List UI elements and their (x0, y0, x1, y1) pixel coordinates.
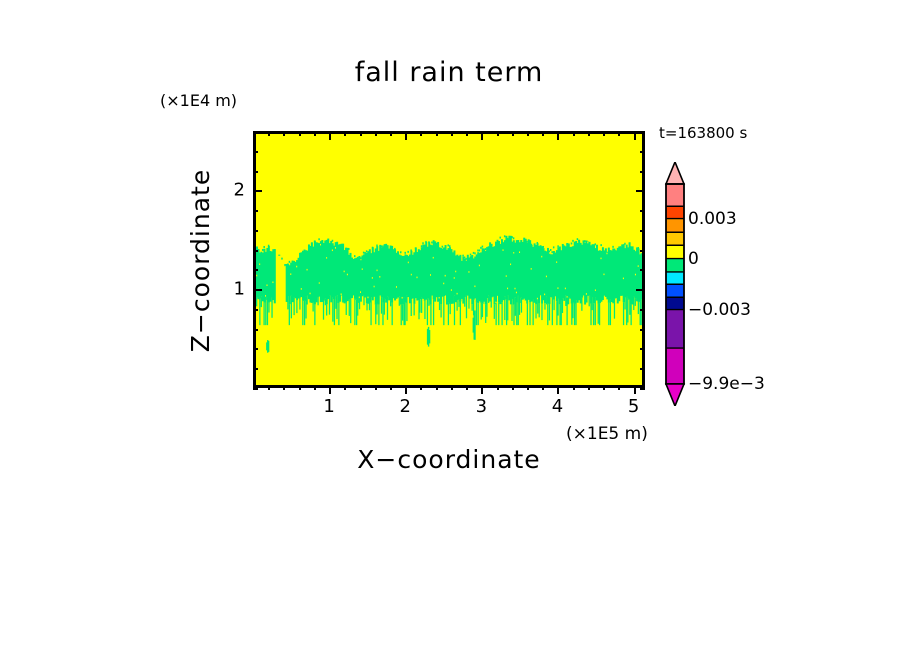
fall-streak (335, 297, 336, 309)
x-minor-tick-top (360, 131, 362, 136)
y-minor-tick (253, 348, 258, 350)
x-major-tick-top (557, 131, 559, 140)
crest-speckle (511, 236, 512, 238)
x-minor-tick-top (527, 131, 529, 136)
fall-streak (357, 303, 358, 316)
fall-streak (381, 297, 382, 314)
crest-speckle (624, 243, 625, 245)
y-minor-tick (253, 131, 258, 133)
crest-speckle (407, 251, 408, 253)
band-hole (595, 289, 596, 291)
fall-streak (476, 302, 477, 325)
fall-streak (376, 304, 377, 315)
band-hole (310, 293, 311, 295)
crest-speckle (357, 257, 358, 259)
fall-streak (610, 300, 611, 325)
crest-speckle (289, 261, 290, 263)
fall-streak (568, 297, 569, 304)
band-hole (359, 297, 360, 299)
x-major-tick-top (634, 131, 636, 140)
fall-streak (326, 304, 327, 315)
y-minor-tick (253, 269, 258, 271)
crest-speckle (474, 252, 475, 254)
x-minor-tick (542, 385, 544, 390)
crest-speckle (531, 244, 532, 246)
crest-speckle (538, 246, 539, 248)
band-hole (531, 268, 532, 270)
band-hole (341, 293, 342, 295)
x-minor-tick (527, 385, 529, 390)
fall-streak (448, 302, 449, 325)
y-minor-tick (253, 329, 258, 331)
x-minor-tick (360, 385, 362, 390)
x-major-tick-top (405, 131, 407, 140)
y-minor-tick (253, 388, 258, 390)
band-hole (272, 281, 273, 283)
crest-speckle (553, 246, 554, 248)
fall-streak (556, 301, 557, 325)
colorbar-band-7 (666, 284, 684, 297)
crest-speckle (448, 244, 449, 246)
fall-streak (338, 303, 339, 325)
band-hole (416, 277, 417, 279)
fall-streak (430, 305, 431, 325)
x-minor-tick (299, 385, 301, 390)
crest-speckle (464, 257, 465, 259)
fall-streak (317, 298, 318, 306)
fall-streak (382, 303, 383, 325)
x-minor-tick (390, 385, 392, 390)
colorbar-band-8 (666, 297, 684, 310)
colorbar-label-1: 0 (688, 249, 699, 269)
crest-speckle (311, 243, 312, 245)
x-minor-tick (603, 385, 605, 390)
band-hole (451, 289, 452, 291)
crest-speckle (425, 241, 426, 243)
y-major-tick (253, 190, 262, 192)
fall-streak (541, 304, 542, 320)
fall-streak (289, 304, 290, 325)
band-column (274, 249, 276, 303)
fall-streak (623, 302, 624, 325)
crest-speckle (317, 243, 318, 245)
band-hole (603, 274, 604, 276)
y-minor-tick (253, 230, 258, 232)
band-hole (379, 276, 380, 278)
band-hole (586, 293, 587, 295)
crest-speckle (321, 241, 322, 243)
fall-streak (595, 297, 596, 325)
crest-speckle (620, 246, 621, 248)
fall-streak (471, 304, 472, 310)
fall-streak (627, 299, 628, 323)
crest-speckle (327, 240, 328, 242)
crest-speckle (394, 248, 395, 250)
band-hole (259, 263, 260, 265)
colorbar-band-9 (666, 310, 684, 349)
crest-speckle (482, 246, 483, 248)
band-hole (296, 266, 297, 268)
band-hole (479, 265, 480, 267)
band-hole (495, 302, 496, 304)
band-hole (332, 249, 333, 251)
x-major-tick (329, 385, 331, 394)
colorbar-band-10 (666, 348, 684, 384)
crest-speckle (338, 244, 339, 246)
fall-streak (515, 297, 516, 316)
fall-streak (506, 300, 507, 326)
fall-streak (265, 300, 266, 325)
band-hole (344, 271, 345, 273)
y-axis-unit-label: (×1E4 m) (160, 91, 237, 110)
fall-streak (323, 301, 324, 320)
fall-streak (399, 296, 400, 305)
band-hole (519, 251, 520, 253)
fall-streak (464, 297, 465, 307)
x-minor-tick (466, 385, 468, 390)
fall-streak (614, 299, 615, 319)
y-major-tick-right (636, 289, 645, 291)
band-hole (510, 264, 511, 266)
fall-streak (302, 301, 303, 326)
band-hole (256, 275, 257, 277)
fall-streak (494, 304, 495, 319)
x-minor-tick-top (603, 131, 605, 136)
y-minor-tick-right (640, 151, 645, 153)
fall-streak (633, 297, 634, 310)
band-hole (347, 274, 348, 276)
colorbar-band-2 (666, 219, 684, 233)
fall-streak (590, 304, 591, 326)
colorbar-top-arrow (666, 162, 684, 184)
fall-streak (439, 301, 440, 310)
crest-speckle (431, 241, 432, 243)
crest-speckle (450, 250, 451, 252)
band-hole (557, 287, 558, 289)
fall-streak (334, 299, 335, 325)
colorbar-label-3: −9.9e−3 (688, 374, 765, 394)
y-minor-tick-right (640, 388, 645, 390)
y-minor-tick (253, 210, 258, 212)
crest-speckle (577, 238, 578, 240)
fall-streak (485, 304, 486, 323)
colorbar-band-5 (666, 259, 684, 273)
colorbar-band-1 (666, 206, 684, 219)
x-minor-tick (512, 385, 514, 390)
band-hole (445, 275, 446, 277)
fall-streak (641, 299, 642, 325)
x-minor-tick (375, 385, 377, 390)
fall-streak (549, 304, 550, 320)
fall-streak (516, 302, 517, 325)
fall-streak (350, 299, 351, 324)
crest-speckle (548, 250, 549, 252)
x-minor-tick-top (588, 131, 590, 136)
page-title: fall rain term (253, 57, 645, 88)
fall-streak (501, 302, 502, 325)
crest-speckle (630, 246, 631, 248)
fall-streak (529, 302, 530, 325)
band-hole (396, 286, 397, 288)
x-tick-label-0: 1 (323, 396, 334, 417)
fall-streak (406, 296, 407, 321)
fall-streak (539, 303, 540, 317)
crest-speckle (485, 248, 486, 250)
y-minor-tick-right (640, 348, 645, 350)
band-hole (503, 249, 504, 251)
x-minor-tick-top (497, 131, 499, 136)
crest-speckle (292, 261, 293, 263)
crest-speckle (458, 256, 459, 258)
band-hole (457, 293, 458, 295)
crest-speckle (314, 240, 315, 242)
y-axis-title-text: Z−coordinate (187, 168, 216, 351)
crest-speckle (366, 250, 367, 252)
band-hole (516, 292, 517, 294)
fall-streak (561, 301, 562, 325)
fall-streak (271, 298, 272, 318)
x-minor-tick-top (283, 131, 285, 136)
band-hole (372, 277, 373, 279)
fall-streak (575, 300, 576, 325)
crest-speckle (571, 242, 572, 244)
band-hole (623, 278, 624, 280)
fall-streak (486, 298, 487, 317)
fall-streak (384, 299, 385, 315)
crest-speckle (428, 241, 429, 243)
fall-streak (346, 302, 347, 315)
crest-speckle (578, 240, 579, 242)
x-major-tick (405, 385, 407, 394)
y-tick-label-0: 1 (219, 279, 245, 300)
fall-streak (456, 300, 457, 311)
band-hole (565, 288, 566, 290)
x-minor-tick-top (299, 131, 301, 136)
crest-speckle (612, 246, 613, 248)
crest-speckle (382, 245, 383, 247)
fall-streak (552, 298, 553, 325)
fall-streak (390, 300, 391, 306)
fall-streak (414, 304, 415, 316)
band-hole (544, 294, 545, 296)
band-hole (514, 288, 515, 290)
fall-streak (562, 298, 563, 313)
x-minor-tick-top (542, 131, 544, 136)
band-hole (587, 242, 588, 244)
band-hole (606, 253, 607, 255)
band-hole (635, 274, 636, 276)
crest-speckle (504, 235, 505, 237)
crest-speckle (583, 240, 584, 242)
fall-streak (356, 300, 357, 325)
band-hole (411, 274, 412, 276)
x-minor-tick (344, 385, 346, 390)
fall-streak (460, 301, 461, 325)
band-hole (367, 297, 368, 299)
fall-streak (401, 305, 402, 326)
colorbar-band-4 (666, 245, 684, 259)
fall-streak (626, 296, 627, 325)
band-hole (430, 274, 431, 276)
fall-streak (427, 298, 428, 325)
timestamp-annotation: t=163800 s (659, 124, 747, 142)
fall-streak (421, 298, 422, 313)
band-hole (513, 252, 514, 254)
fall-streak (571, 304, 572, 325)
fall-streak (521, 298, 522, 313)
fall-streak (268, 303, 269, 313)
x-minor-tick-top (390, 131, 392, 136)
crest-speckle (348, 248, 349, 250)
x-minor-tick (573, 385, 575, 390)
fall-streak (589, 296, 590, 307)
crest-speckle (449, 245, 450, 247)
fall-streak (307, 296, 308, 305)
crest-speckle (465, 258, 466, 260)
crest-speckle (499, 237, 500, 239)
x-tick-label-1: 2 (399, 396, 410, 417)
x-minor-tick (420, 385, 422, 390)
x-major-tick (634, 385, 636, 394)
fall-streak (478, 303, 479, 325)
fall-streak (263, 302, 264, 325)
fall-streak (574, 304, 575, 326)
crest-speckle (550, 249, 551, 251)
x-axis-title: X−coordinate (253, 445, 645, 474)
crest-speckle (600, 244, 601, 246)
fall-streak (375, 305, 376, 325)
band-hole (474, 286, 475, 288)
fall-streak (496, 302, 497, 325)
crest-speckle (372, 247, 373, 249)
crest-speckle (551, 251, 552, 253)
band-hole (546, 276, 547, 278)
fall-streak (635, 298, 636, 306)
fall-streak (454, 296, 455, 325)
y-major-tick (253, 289, 262, 291)
band-hole (320, 244, 321, 246)
band-hole (326, 257, 327, 259)
crest-speckle (422, 242, 423, 244)
colorbar-bottom-arrow (666, 384, 684, 406)
crest-speckle (594, 243, 595, 245)
fall-streak (572, 302, 573, 318)
fall-streak (378, 305, 379, 326)
crest-speckle (473, 252, 474, 254)
fall-streak (296, 300, 297, 313)
x-minor-tick-top (268, 131, 270, 136)
fall-streak (428, 300, 429, 306)
colorbar-band-3 (666, 232, 684, 245)
fall-streak (491, 297, 492, 307)
fall-streak (518, 296, 519, 326)
colorbar-svg (662, 162, 688, 406)
fall-streak (366, 303, 367, 310)
fall-streak (565, 295, 566, 306)
fall-streak (507, 295, 508, 320)
crest-speckle (543, 246, 544, 248)
band-column (278, 255, 280, 256)
band-hole (439, 297, 440, 299)
crest-speckle (268, 245, 269, 247)
fall-streak (450, 304, 451, 314)
x-minor-tick (588, 385, 590, 390)
fall-streak (498, 302, 499, 325)
band-hole (556, 261, 557, 263)
y-minor-tick-right (640, 131, 645, 133)
fall-streak (466, 296, 467, 319)
fall-streak (293, 297, 294, 315)
fall-streak (631, 304, 632, 325)
fall-streak (304, 301, 305, 325)
band-hole (601, 258, 602, 260)
fall-streak (535, 304, 536, 318)
crest-speckle (479, 249, 480, 251)
fall-streak (513, 305, 514, 326)
fall-streak (354, 299, 355, 325)
crest-speckle (326, 240, 327, 242)
x-axis-unit-label: (×1E5 m) (566, 424, 648, 444)
crest-speckle (480, 247, 481, 249)
y-minor-tick-right (640, 368, 645, 370)
x-minor-tick-top (344, 131, 346, 136)
x-minor-tick (314, 385, 316, 390)
crest-speckle (315, 243, 316, 245)
x-major-tick (557, 385, 559, 394)
isolated-patch (474, 310, 475, 339)
fall-streak (404, 303, 405, 325)
band-hole (265, 295, 266, 297)
crest-speckle (614, 249, 615, 251)
crest-speckle (566, 244, 567, 246)
fall-streak (638, 302, 639, 314)
fall-streak (433, 299, 434, 325)
fall-streak (332, 297, 333, 322)
crest-speckle (424, 245, 425, 247)
x-tick-label-4: 5 (628, 396, 639, 417)
y-minor-tick (253, 309, 258, 311)
y-minor-tick (253, 151, 258, 153)
y-minor-tick-right (640, 230, 645, 232)
y-minor-tick-right (640, 269, 645, 271)
band-hole (541, 256, 542, 258)
crest-speckle (415, 247, 416, 249)
band-hole (433, 257, 434, 259)
y-axis-title: Z−coordinate (186, 170, 216, 350)
fall-streak (598, 303, 599, 323)
x-minor-tick-top (618, 131, 620, 136)
colorbar-band-6 (666, 272, 684, 285)
fall-streak (593, 303, 594, 325)
fall-streak (411, 299, 412, 316)
crest-speckle (507, 238, 508, 240)
crest-speckle (332, 240, 333, 242)
fall-streak (599, 303, 600, 325)
plot-figure: fall rain term (×1E4 m) t=163800 s 12345… (0, 0, 904, 654)
fall-streak (547, 303, 548, 325)
fall-streak (481, 303, 482, 320)
x-major-tick-top (329, 131, 331, 140)
crest-speckle (364, 252, 365, 254)
crest-speckle (510, 236, 511, 238)
x-minor-tick (618, 385, 620, 390)
crest-speckle (537, 242, 538, 244)
crest-speckle (584, 240, 585, 242)
band-hole (402, 297, 403, 299)
fall-streak (369, 302, 370, 310)
fall-streak (336, 295, 337, 319)
band-hole (307, 269, 308, 271)
